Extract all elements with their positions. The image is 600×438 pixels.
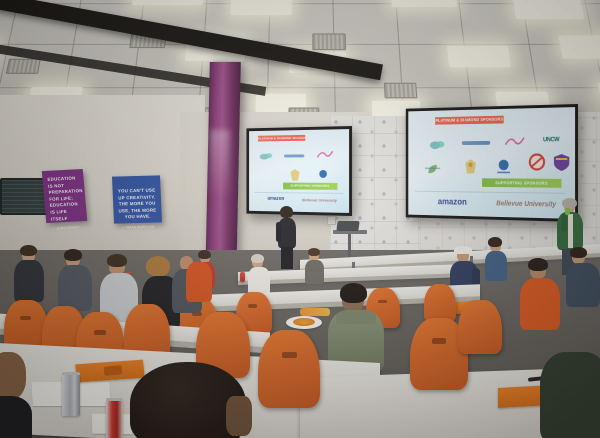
poster-angelou: YOU CAN'T USE UP CREATIVITY. THE MORE YO… — [112, 175, 162, 223]
crest-icon — [289, 168, 302, 183]
folder-detail — [104, 365, 123, 376]
person-head — [226, 396, 252, 436]
presenter-legs — [281, 247, 293, 269]
person-torso — [186, 262, 212, 302]
ceiling-light — [447, 46, 511, 67]
pillar-highlight — [210, 130, 230, 200]
crest-icon — [464, 158, 478, 175]
poster-dewey-text: EDUCATION IS NOT PREPARATION FOR LIFE; E… — [47, 175, 83, 221]
sponsor-logo-blue-wordmark — [461, 138, 491, 148]
ceiling-light — [132, 0, 205, 5]
circle-logo-icon — [496, 158, 512, 175]
sponsor-logo-blue-circle — [493, 157, 515, 176]
presenter-jacket-stripe — [568, 214, 573, 248]
ceiling-light — [558, 36, 600, 59]
shield-icon — [552, 152, 571, 172]
person-torso — [248, 267, 270, 295]
ceiling-vent — [384, 83, 418, 99]
cloud-icon — [259, 151, 273, 161]
person-hair — [340, 283, 367, 303]
ceiling-vent — [312, 33, 346, 50]
person-head — [0, 352, 26, 400]
projection-screen-right: PLATINUM & DIAMOND SPONSORS UNCW — [406, 104, 578, 222]
person-torso — [0, 396, 32, 438]
sponsor-logo-red-ring — [526, 151, 549, 173]
wall-outlet-plate — [327, 216, 336, 225]
food-items — [293, 318, 315, 326]
ceiling-light — [512, 0, 584, 19]
presenter-hair — [562, 198, 577, 208]
sponsor-logo-university: Bellevue University — [491, 198, 562, 211]
sponsor-logo-pink-script-left — [315, 147, 336, 159]
sponsor-logo-blue-wordmark-left — [283, 151, 305, 159]
presenter-hair — [280, 206, 293, 218]
sponsor-slide-right: PLATINUM & DIAMOND SPONSORS UNCW — [408, 107, 575, 219]
person-hair — [308, 248, 320, 256]
person-hair — [528, 258, 548, 271]
projection-screen-left: PLATINUM & DIAMOND SPONSORS — [246, 126, 352, 216]
person-hair — [20, 245, 37, 256]
sponsor-logo-teal-cloud — [427, 137, 449, 152]
soda-can-red — [106, 400, 123, 438]
ceiling-vent — [6, 59, 41, 74]
person-torso — [566, 263, 600, 307]
presenter-laptop — [336, 221, 359, 231]
ring-icon — [528, 152, 547, 172]
person-hair — [251, 254, 264, 263]
person-torso — [14, 260, 44, 302]
sponsor-tier-banner-secondary: SUPPORTING SPONSORS — [482, 178, 561, 188]
circle-logo-icon — [316, 168, 329, 182]
sponsor-logo-green-leaf — [423, 161, 445, 176]
person-hair — [488, 237, 502, 247]
sponsor-logo-university-left: Bellevue University — [298, 196, 342, 205]
person-torso — [58, 265, 92, 311]
food-items — [300, 308, 330, 316]
script-logo-icon — [504, 132, 526, 147]
sponsor-tier-banner-secondary-left: SUPPORTING SPONSORS — [283, 183, 337, 190]
person-torso — [520, 278, 560, 330]
script-logo-icon — [316, 148, 333, 159]
conference-room-photo: EDUCATION IS NOT PREPARATION FOR LIFE; E… — [0, 0, 600, 438]
sponsor-tier-banner-primary: PLATINUM & DIAMOND SPONSORS — [435, 116, 504, 125]
soda-can-red — [240, 272, 245, 282]
person-hair — [107, 254, 127, 267]
person-hair — [146, 256, 170, 276]
person-torso — [540, 352, 600, 438]
leaf-icon — [425, 162, 444, 175]
sponsor-logo-gold-crest-left — [287, 167, 304, 183]
baseball-cap — [454, 246, 472, 254]
poster-angelou-text: YOU CAN'T USE UP CREATIVITY. THE MORE YO… — [118, 188, 157, 220]
presenter-table-leg — [348, 234, 351, 260]
person-torso — [305, 260, 324, 284]
person-hair — [198, 250, 211, 259]
presenter-arm — [561, 214, 567, 232]
sponsor-logo-pink-script — [502, 132, 528, 148]
poster-dewey: EDUCATION IS NOT PREPARATION FOR LIFE; E… — [42, 169, 88, 223]
sponsor-logo-teal-cloud-left — [258, 150, 274, 162]
sponsor-logo-purple-shield — [550, 151, 573, 173]
ceiling-light — [390, 0, 457, 7]
sponsor-logo-gold-crest — [461, 157, 480, 176]
ceiling-light — [230, 0, 292, 15]
sponsor-logo-blue-circle-left — [315, 167, 332, 183]
person-hair — [570, 247, 587, 258]
hood — [336, 310, 376, 324]
sponsor-logo-uncw: UNCW — [537, 134, 566, 146]
sponsor-logo-amazon: amazon — [432, 195, 474, 209]
presenter-arm — [276, 222, 281, 242]
person-hair — [64, 249, 82, 261]
energy-can-silver — [62, 374, 80, 416]
cloud-icon — [428, 138, 447, 151]
sponsor-tier-banner-primary-left: PLATINUM & DIAMOND SPONSORS — [258, 135, 305, 142]
person-torso — [485, 251, 507, 281]
sponsor-logo-amazon-left: amazon — [261, 194, 290, 204]
sponsor-slide-left: PLATINUM & DIAMOND SPONSORS — [249, 129, 349, 213]
poster-angelou-attribution: — MAYA ANGELOU — [119, 225, 157, 231]
